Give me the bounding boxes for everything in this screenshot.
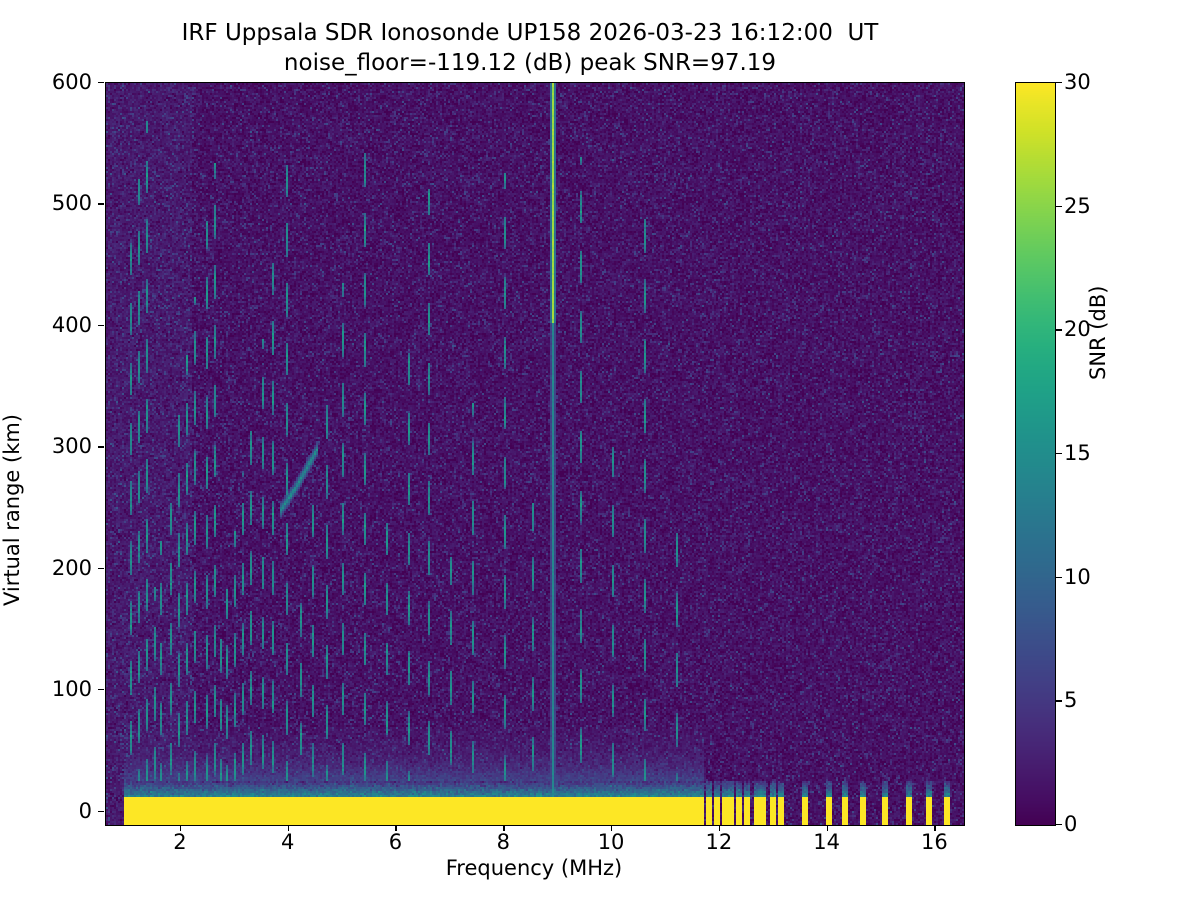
colorbar bbox=[1015, 82, 1056, 826]
colorbar-tick-label: 10 bbox=[1064, 565, 1091, 589]
ionogram-heatmap bbox=[106, 83, 964, 825]
colorbar-tick-label: 15 bbox=[1064, 441, 1091, 465]
y-axis-label: Virtual range (km) bbox=[0, 390, 24, 630]
x-tick-mark bbox=[180, 825, 181, 831]
figure-title: IRF Uppsala SDR Ionosonde UP158 2026-03-… bbox=[0, 18, 1060, 78]
colorbar-tick-mark bbox=[1056, 824, 1062, 825]
title-line-1: IRF Uppsala SDR Ionosonde UP158 2026-03-… bbox=[0, 18, 1060, 48]
x-axis-label: Frequency (MHz) bbox=[105, 856, 963, 880]
y-tick-mark bbox=[98, 689, 104, 690]
colorbar-gradient bbox=[1016, 83, 1055, 825]
ionogram-figure: IRF Uppsala SDR Ionosonde UP158 2026-03-… bbox=[0, 0, 1200, 900]
y-tick-label: 0 bbox=[22, 799, 92, 823]
x-tick-mark bbox=[827, 825, 828, 831]
colorbar-tick-mark bbox=[1056, 577, 1062, 578]
y-tick-mark bbox=[98, 811, 104, 812]
x-tick-mark bbox=[503, 825, 504, 831]
colorbar-tick-mark bbox=[1056, 82, 1062, 83]
x-tick-label: 14 bbox=[813, 830, 840, 854]
colorbar-tick-label: 0 bbox=[1064, 812, 1077, 836]
y-tick-mark bbox=[98, 203, 104, 204]
x-tick-mark bbox=[395, 825, 396, 831]
y-tick-label: 600 bbox=[22, 70, 92, 94]
x-tick-mark bbox=[611, 825, 612, 831]
x-tick-mark bbox=[934, 825, 935, 831]
x-tick-label: 6 bbox=[389, 830, 402, 854]
ionogram-plot-area bbox=[105, 82, 965, 826]
x-tick-label: 16 bbox=[921, 830, 948, 854]
x-tick-label: 4 bbox=[281, 830, 294, 854]
y-tick-label: 300 bbox=[22, 434, 92, 458]
title-line-2: noise_floor=-119.12 (dB) peak SNR=97.19 bbox=[0, 48, 1060, 78]
y-tick-mark bbox=[98, 325, 104, 326]
y-tick-mark bbox=[98, 446, 104, 447]
y-tick-mark bbox=[98, 568, 104, 569]
x-tick-label: 2 bbox=[173, 830, 186, 854]
y-tick-label: 200 bbox=[22, 556, 92, 580]
colorbar-tick-label: 5 bbox=[1064, 688, 1077, 712]
x-tick-label: 12 bbox=[705, 830, 732, 854]
x-tick-label: 10 bbox=[598, 830, 625, 854]
colorbar-tick-label: 30 bbox=[1064, 70, 1091, 94]
y-tick-label: 400 bbox=[22, 313, 92, 337]
x-tick-mark bbox=[288, 825, 289, 831]
colorbar-tick-mark bbox=[1056, 329, 1062, 330]
colorbar-label: SNR (dB) bbox=[1086, 180, 1110, 380]
y-tick-label: 100 bbox=[22, 677, 92, 701]
x-tick-mark bbox=[719, 825, 720, 831]
colorbar-tick-mark bbox=[1056, 700, 1062, 701]
y-tick-label: 500 bbox=[22, 191, 92, 215]
colorbar-tick-mark bbox=[1056, 206, 1062, 207]
y-tick-mark bbox=[98, 82, 104, 83]
colorbar-tick-mark bbox=[1056, 453, 1062, 454]
x-tick-label: 8 bbox=[497, 830, 510, 854]
